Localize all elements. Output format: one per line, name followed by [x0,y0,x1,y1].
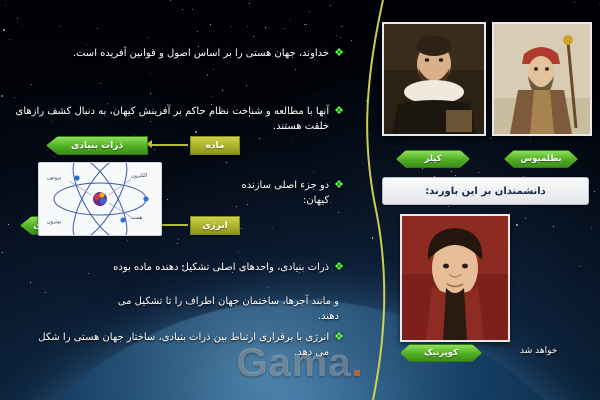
bullet-text-6: انرژی با برقراری ارتباط بین ذرات بنیادی،… [30,330,329,360]
ptolemy-portrait-art [494,24,590,134]
atom-label-proton: پروتون [47,175,61,181]
portrait-copernicus[interactable] [400,214,510,342]
panel-title-text: دانشمندان بر این باورند: [425,186,546,197]
name-badge-kepler[interactable]: کپلر [396,150,470,168]
kepler-portrait-art [384,24,484,134]
bullet-text-2: آنها با مطالعه و شناخت نظام حاکم بر آفری… [14,104,329,134]
ptolemy-name-label: بطلمیوس [520,154,561,164]
matter-label: ماده [206,141,225,151]
portrait-ptolemy[interactable] [492,22,592,136]
matter-connector-line [152,144,188,146]
atom-label-nucleus: هسته [131,215,142,221]
bullet-text-4: ذرات بنیادی، واحدهای اصلی تشکیل دهنده ما… [113,260,329,275]
bullet-row-5: و مانند آجرها، ساختمان جهان اطراف را تا … [100,294,344,324]
bullet-marker-icon: ❖ [334,104,344,117]
fundamental-particles-box[interactable]: ذرات بنیادی [46,136,148,155]
footer-next-label: خواهد شد [520,344,557,359]
fundamental-particles-label: ذرات بنیادی [71,141,123,151]
bullet-marker-icon: ❖ [334,330,344,343]
portrait-kepler[interactable] [382,22,486,136]
bullet-row-1: ❖ خداوند، جهان هستی را بر اساس اصول و قو… [14,46,344,61]
bullet-row-3: ❖ دو جزء اصلی سازنده کیهان: [232,178,344,208]
atom-label-neutron: نوترون [47,219,61,225]
copernicus-portrait-art [402,216,508,340]
bullet-marker-icon: ❖ [334,46,344,59]
panel-title-box: دانشمندان بر این باورند: [382,177,589,205]
bullet-row-4: ❖ ذرات بنیادی، واحدهای اصلی تشکیل دهنده … [48,260,344,275]
atom-diagram: الکترون هسته پروتون نوترون [38,162,162,236]
atom-label-electron: الکترون [131,173,147,179]
bullet-text-1: خداوند، جهان هستی را بر اساس اصول و قوان… [73,46,329,61]
bullet-text-3: دو جزء اصلی سازنده کیهان: [232,178,329,208]
copernicus-name-label: کوپرنیک [424,348,458,358]
name-badge-copernicus[interactable]: کوپرنیک [400,344,482,362]
energy-label: انرژی [202,221,228,231]
bullet-row-2: ❖ آنها با مطالعه و شناخت نظام حاکم بر آف… [14,104,344,134]
slide-canvas: ❖ خداوند، جهان هستی را بر اساس اصول و قو… [0,0,600,400]
bullet-row-6: ❖ انرژی با برقراری ارتباط بین ذرات بنیاد… [30,330,344,360]
kepler-name-label: کپلر [424,154,441,164]
energy-box[interactable]: انرژی [190,216,240,235]
bullet-text-5: و مانند آجرها، ساختمان جهان اطراف را تا … [100,294,339,324]
bullet-marker-icon: ❖ [334,260,344,273]
matter-box[interactable]: ماده [190,136,240,155]
bullet-marker-icon: ❖ [334,178,344,191]
name-badge-ptolemy[interactable]: بطلمیوس [504,150,578,168]
